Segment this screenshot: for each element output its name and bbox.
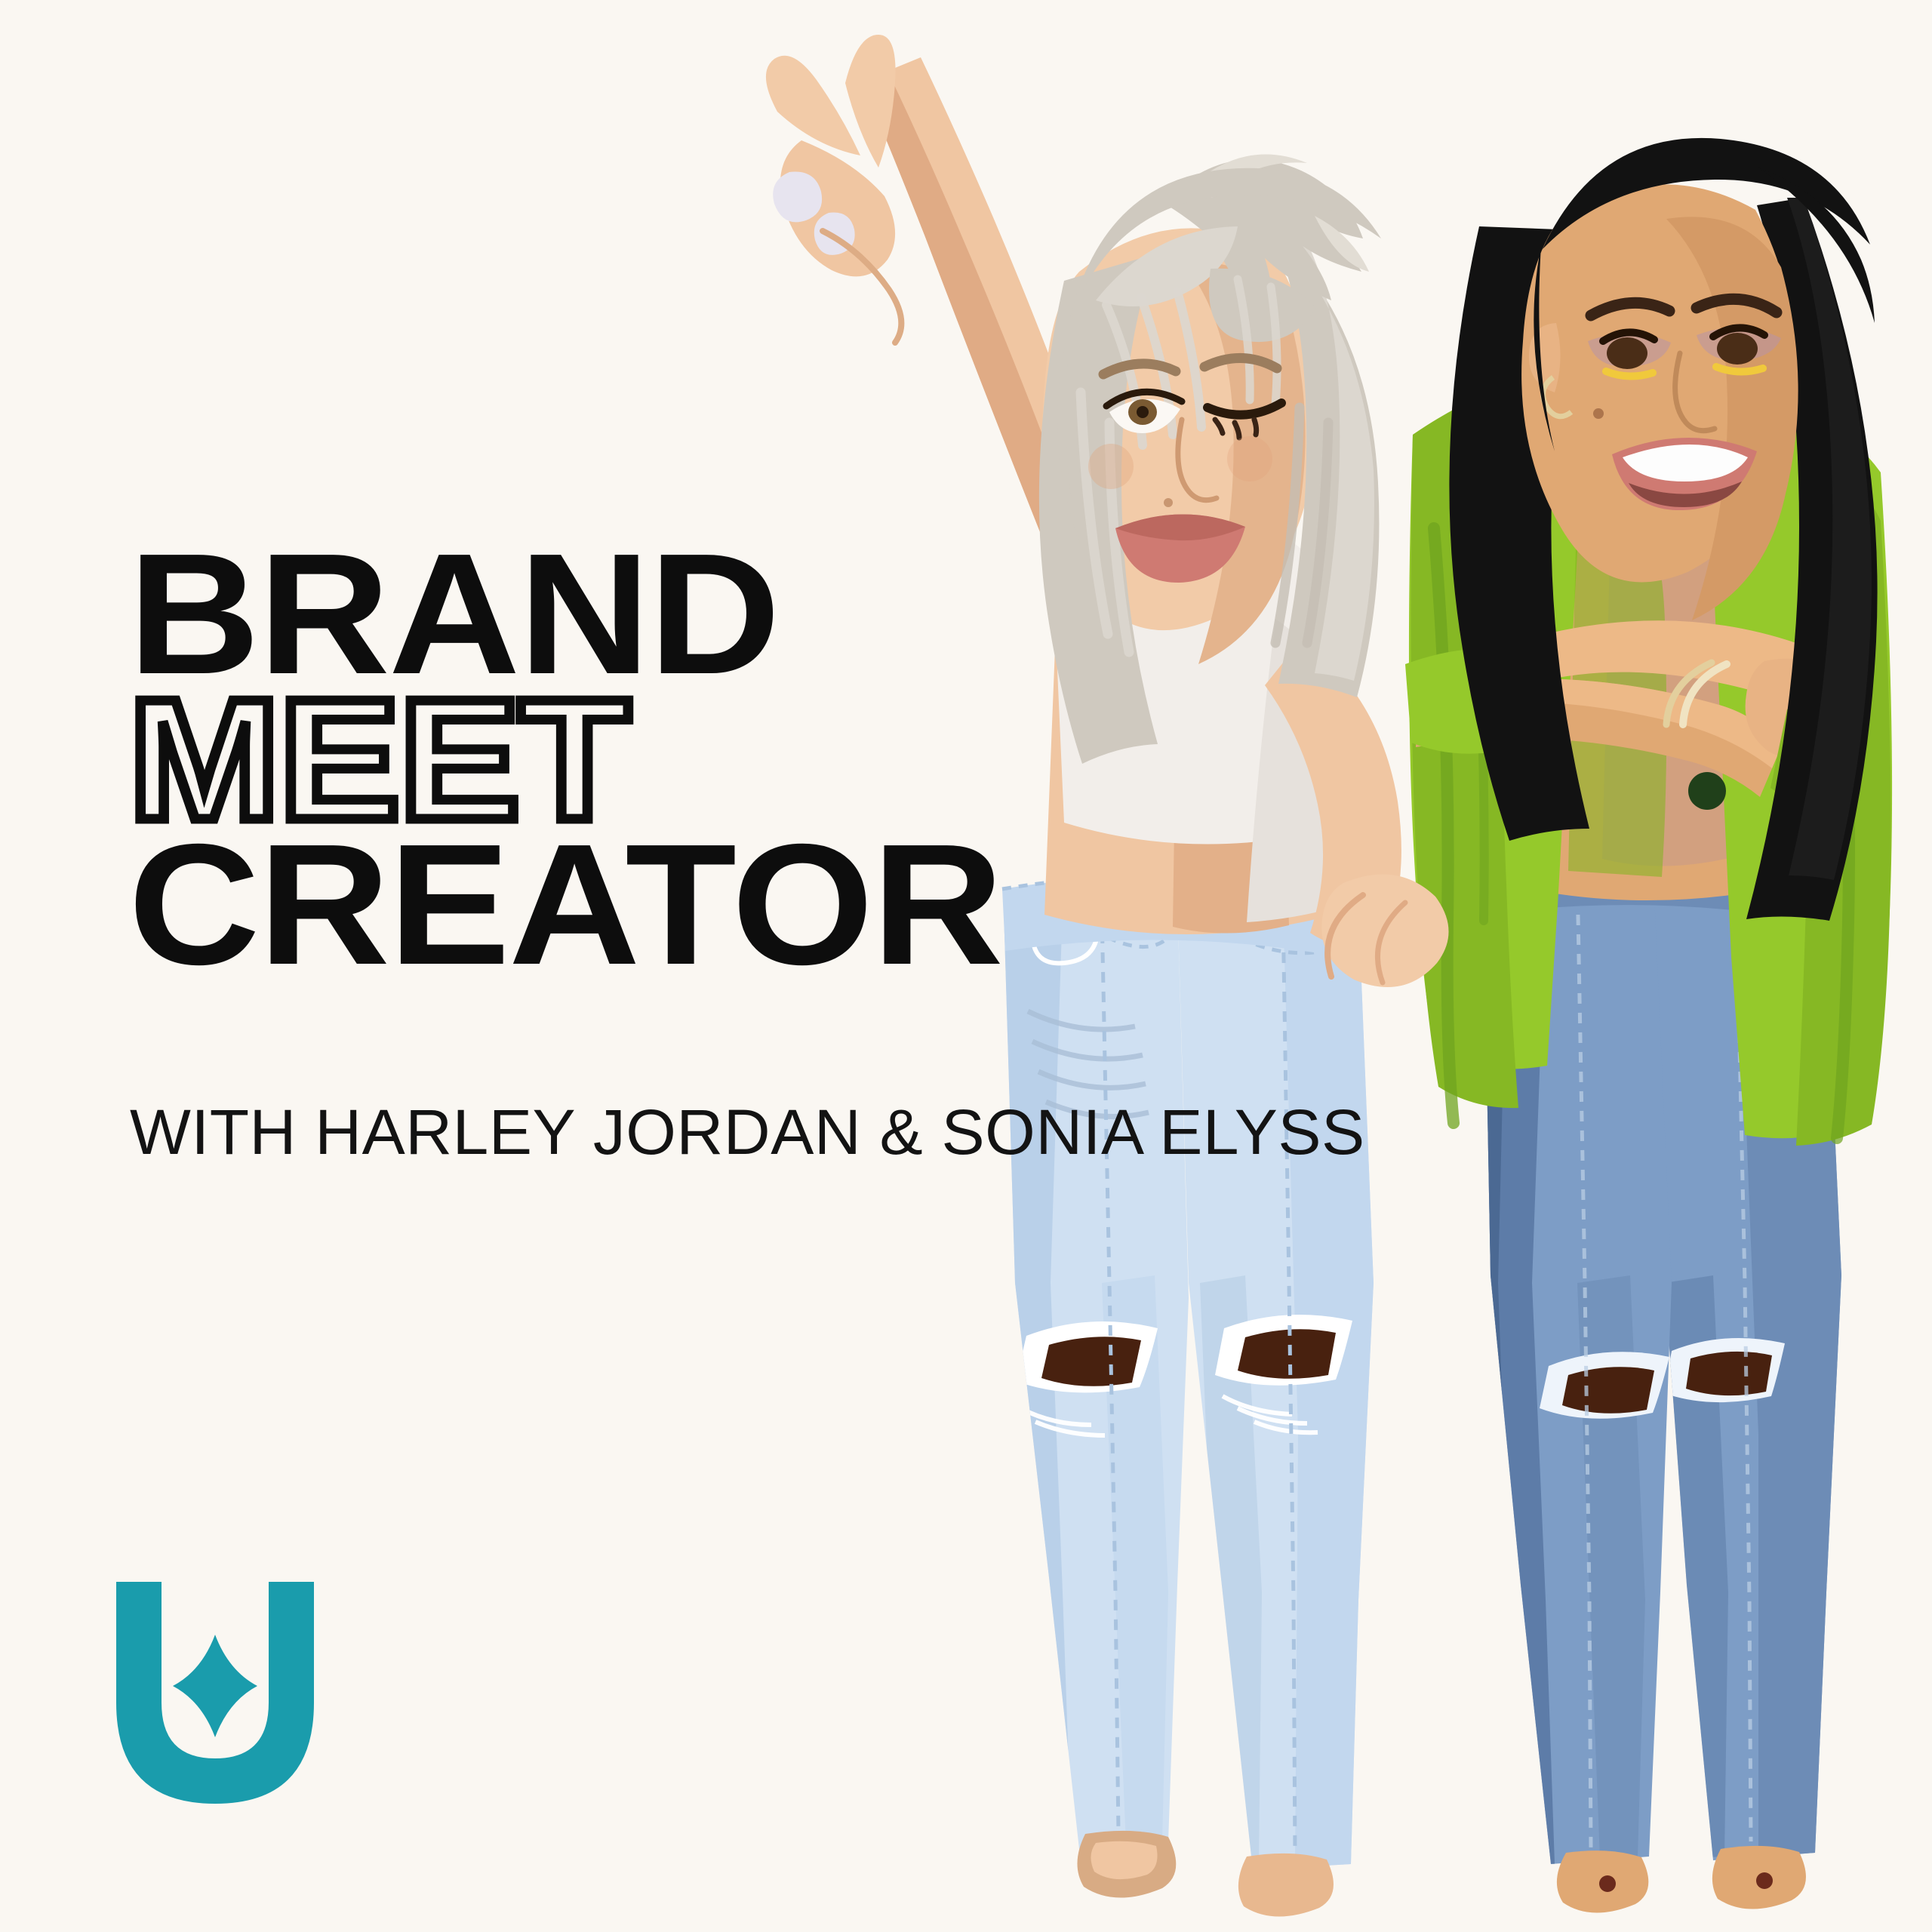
u-sparkle-logo — [106, 1577, 325, 1807]
sparkle-icon — [173, 1635, 257, 1737]
podcast-cover-art: BRAND MEET CREATOR WITH HARLEY JORDAN & … — [0, 0, 1932, 1932]
